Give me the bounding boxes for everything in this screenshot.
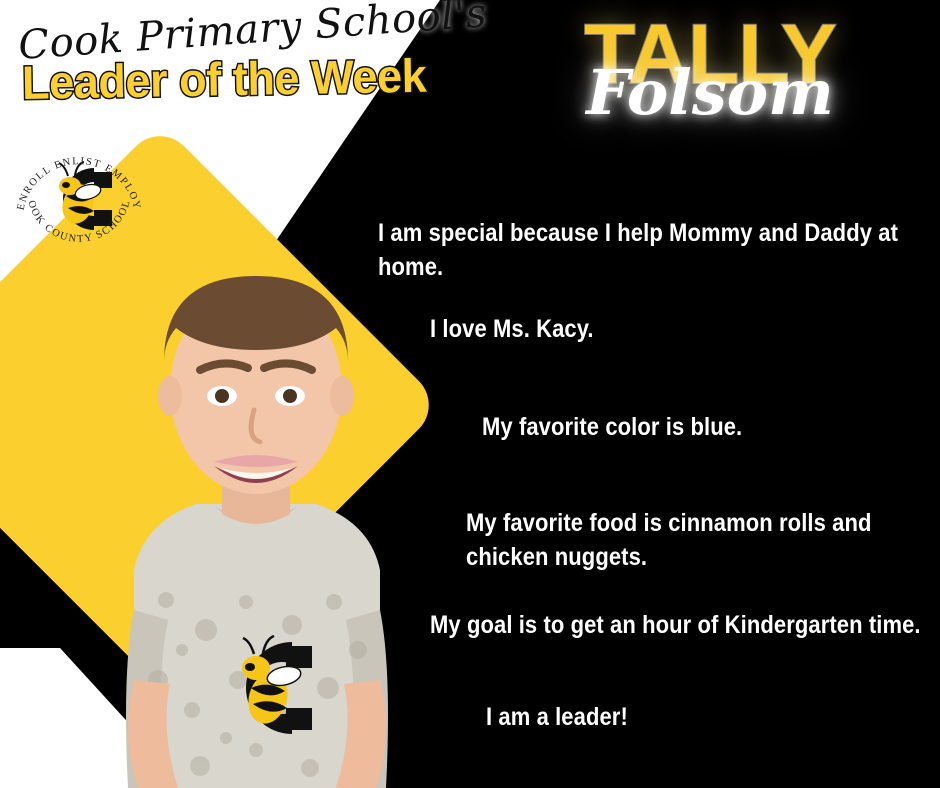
student-portrait-illustration xyxy=(96,210,416,788)
statement-item: I am special because I help Mommy and Da… xyxy=(378,216,940,284)
student-last-name: Folsom xyxy=(500,62,920,124)
statement-item: I love Ms. Kacy. xyxy=(430,312,940,346)
statement-item: I am a leader! xyxy=(486,700,940,734)
student-photo xyxy=(96,210,416,788)
statement-item: My goal is to get an hour of Kindergarte… xyxy=(430,608,940,642)
statement-item: My favorite color is blue. xyxy=(482,410,940,444)
leader-of-the-week-poster: Cook Primary School's Leader of the Week xyxy=(0,0,940,788)
page-title: Leader of the Week xyxy=(22,50,436,107)
student-name-block: TALLY Folsom xyxy=(500,12,920,152)
statement-item: My favorite food is cinnamon rolls and c… xyxy=(466,506,940,574)
